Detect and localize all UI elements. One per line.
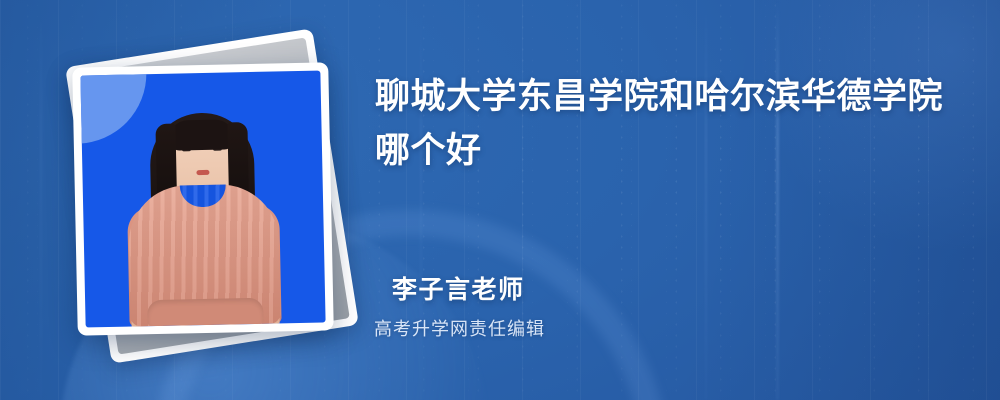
photo-stack — [45, 40, 345, 360]
portrait-hair-fringe — [168, 119, 235, 150]
author-role: 高考升学网责任编辑 — [374, 315, 545, 341]
headline-block: 聊城大学东昌学院和哈尔滨华德学院哪个好 — [375, 70, 965, 179]
article-banner: 聊城大学东昌学院和哈尔滨华德学院哪个好 李子言老师 高考升学网责任编辑 — [0, 0, 1000, 400]
portrait-waistband — [147, 298, 264, 326]
author-byline: 李子言老师 高考升学网责任编辑 — [392, 274, 545, 341]
article-title: 聊城大学东昌学院和哈尔滨华德学院哪个好 — [375, 70, 950, 179]
author-name: 李子言老师 — [392, 274, 545, 305]
photo-card-front — [72, 62, 334, 335]
portrait-illustration — [80, 71, 325, 328]
background-light-streak — [40, 0, 42, 400]
portrait-lips — [196, 170, 209, 175]
portrait-collar — [180, 185, 226, 208]
background-light-streak — [705, 0, 707, 400]
author-portrait-photo — [80, 71, 325, 328]
